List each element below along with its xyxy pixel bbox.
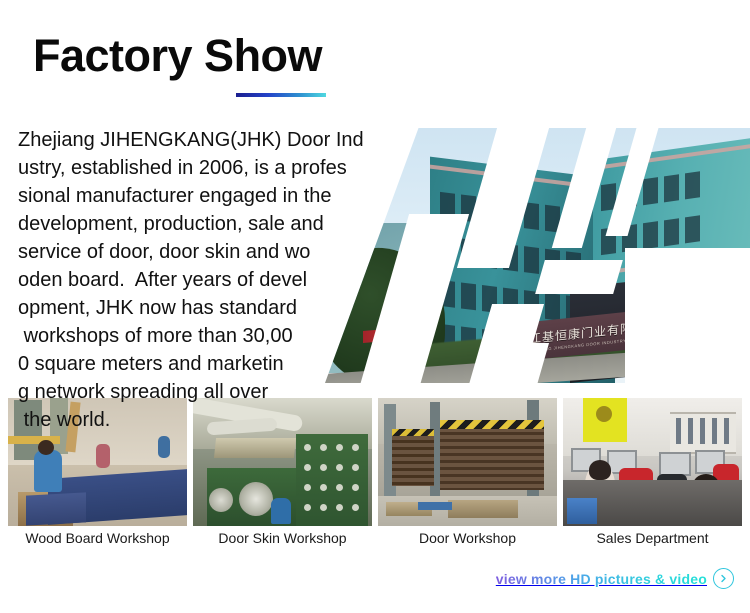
jhk-watermark-stroke: [625, 248, 750, 383]
page-title: Factory Show: [33, 32, 322, 79]
caption-door-workshop: Door Workshop: [378, 530, 557, 546]
caption-wood-board-workshop: Wood Board Workshop: [8, 530, 187, 546]
chevron-right-circle-icon[interactable]: [713, 568, 734, 589]
factory-show-page: Factory Show: [0, 0, 750, 613]
jhk-watermark-stroke: [535, 260, 623, 294]
thumbnail-sales-department[interactable]: [563, 398, 742, 526]
company-intro-paragraph: Zhejiang JIHENGKANG(JHK) Door Ind ustry,…: [18, 126, 438, 434]
view-more-label: view more HD pictures & video: [496, 571, 707, 587]
title-accent-bar: [236, 93, 326, 97]
caption-sales-department: Sales Department: [563, 530, 742, 546]
caption-door-skin-workshop: Door Skin Workshop: [193, 530, 372, 546]
thumbnail-captions: Wood Board Workshop Door Skin Workshop D…: [8, 530, 742, 546]
view-more-link[interactable]: view more HD pictures & video: [496, 568, 734, 589]
